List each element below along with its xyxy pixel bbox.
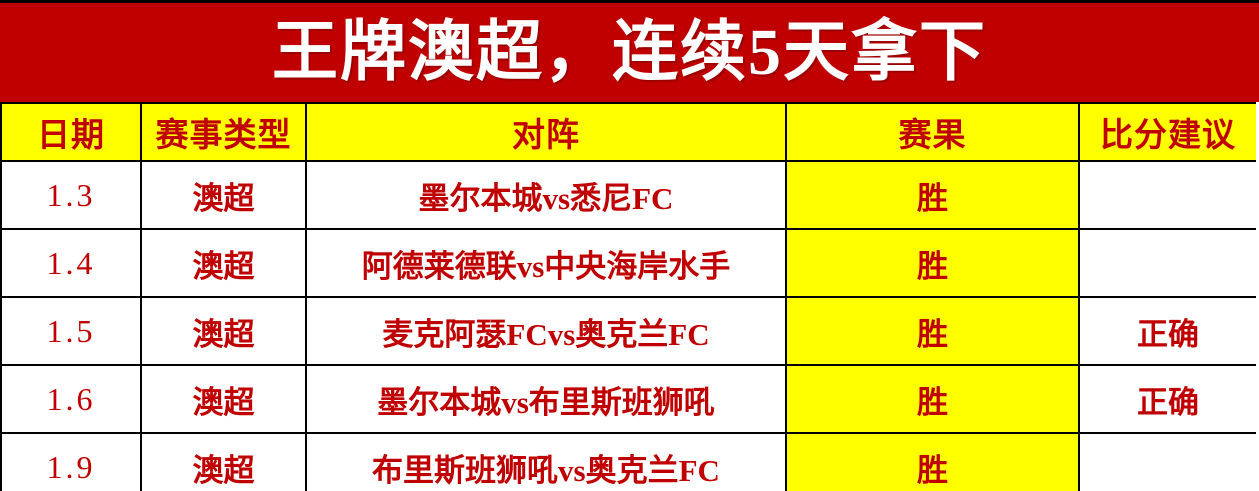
cell-matchup: 麦克阿瑟FCvs奥克兰FC [306,297,786,365]
cell-result: 胜 [786,161,1079,229]
banner: 王牌澳超，连续5天拿下 [0,0,1259,102]
cell-competition: 澳超 [141,229,306,297]
cell-score-advice: 正确 [1079,297,1256,365]
cell-result: 胜 [786,229,1079,297]
column-header-matchup: 对阵 [306,103,786,161]
cell-date: 1.9 [1,433,141,491]
cell-competition: 澳超 [141,433,306,491]
fixtures-table-container: 日期 赛事类型 对阵 赛果 比分建议 1.3 澳超 墨尔本城vs悉尼FC 胜 1… [0,102,1256,491]
cell-result: 胜 [786,297,1079,365]
cell-matchup: 布里斯班狮吼vs奥克兰FC [306,433,786,491]
cell-date: 1.4 [1,229,141,297]
table-header-row: 日期 赛事类型 对阵 赛果 比分建议 [1,103,1256,161]
cell-score-advice [1079,433,1256,491]
cell-competition: 澳超 [141,297,306,365]
fixtures-table: 日期 赛事类型 对阵 赛果 比分建议 1.3 澳超 墨尔本城vs悉尼FC 胜 1… [0,102,1256,491]
column-header-score-advice: 比分建议 [1079,103,1256,161]
cell-score-advice [1079,161,1256,229]
column-header-competition: 赛事类型 [141,103,306,161]
cell-score-advice [1079,229,1256,297]
column-header-date: 日期 [1,103,141,161]
table-row: 1.4 澳超 阿德莱德联vs中央海岸水手 胜 [1,229,1256,297]
cell-date: 1.5 [1,297,141,365]
table-row: 1.6 澳超 墨尔本城vs布里斯班狮吼 胜 正确 [1,365,1256,433]
prediction-table-page: 王牌澳超，连续5天拿下 日期 赛事类型 对阵 赛果 比分建议 [0,0,1259,491]
table-row: 1.9 澳超 布里斯班狮吼vs奥克兰FC 胜 [1,433,1256,491]
table-row: 1.3 澳超 墨尔本城vs悉尼FC 胜 [1,161,1256,229]
column-header-result: 赛果 [786,103,1079,161]
cell-matchup: 墨尔本城vs悉尼FC [306,161,786,229]
cell-competition: 澳超 [141,161,306,229]
cell-result: 胜 [786,433,1079,491]
cell-date: 1.6 [1,365,141,433]
cell-matchup: 阿德莱德联vs中央海岸水手 [306,229,786,297]
cell-matchup: 墨尔本城vs布里斯班狮吼 [306,365,786,433]
cell-competition: 澳超 [141,365,306,433]
cell-date: 1.3 [1,161,141,229]
cell-result: 胜 [786,365,1079,433]
table-row: 1.5 澳超 麦克阿瑟FCvs奥克兰FC 胜 正确 [1,297,1256,365]
cell-score-advice: 正确 [1079,365,1256,433]
banner-title: 王牌澳超，连续5天拿下 [272,20,987,86]
